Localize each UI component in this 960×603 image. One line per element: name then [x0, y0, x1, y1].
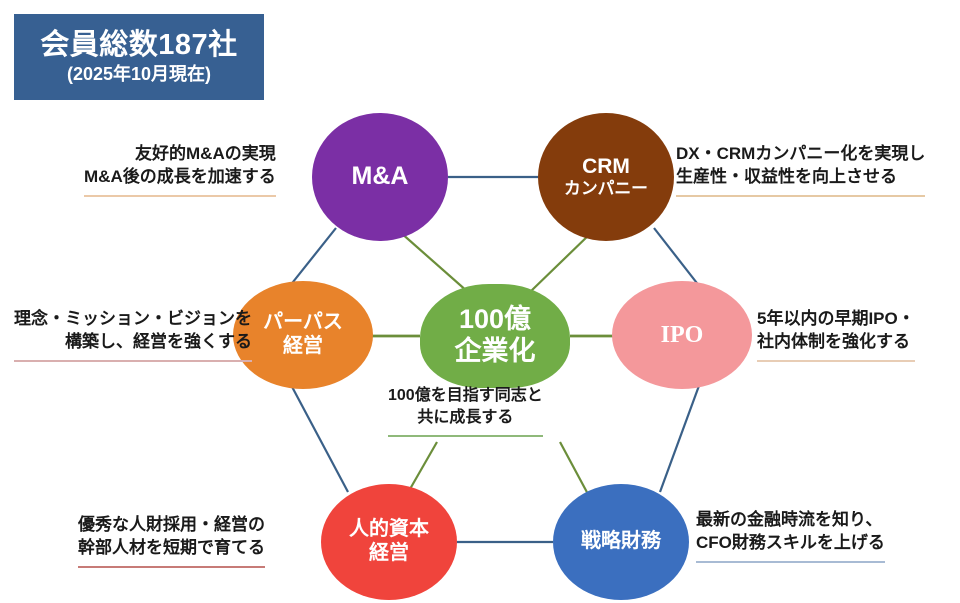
caption-human-line2: 幹部人材を短期で育てる — [78, 536, 265, 559]
caption-finance-line2: CFO財務スキルを上げる — [696, 531, 885, 554]
node-ma[interactable]: M&A — [312, 113, 448, 241]
spoke-center-finance — [560, 442, 589, 496]
node-finance[interactable]: 戦略財務 — [553, 484, 689, 600]
node-ipo-label: IPO — [661, 321, 704, 349]
node-finance-label: 戦略財務 — [581, 530, 661, 554]
caption-crm: DX・CRMカンパニー化を実現し 生産性・収益性を向上させる — [676, 142, 925, 197]
edge-ipo-finance — [660, 383, 700, 492]
spoke-center-crm — [530, 232, 592, 292]
node-purpose[interactable]: パーパス 経営 — [233, 281, 373, 389]
caption-ipo: 5年以内の早期IPO・ 社内体制を強化する — [757, 307, 915, 362]
node-purpose-sublabel: 経営 — [263, 335, 343, 359]
caption-center: 100億を目指す同志と 共に成長する — [388, 385, 543, 437]
caption-human: 優秀な人財採用・経営の 幹部人材を短期で育てる — [78, 513, 265, 568]
caption-purpose: 理念・ミッション・ビジョンを 構築し、経営を強くする — [14, 307, 252, 362]
node-crm[interactable]: CRM カンパニー — [538, 113, 674, 241]
caption-purpose-line2: 構築し、経営を強くする — [14, 330, 252, 353]
caption-ma-rule — [84, 195, 276, 197]
edge-crm-ipo — [654, 228, 700, 287]
caption-ipo-line2: 社内体制を強化する — [757, 330, 915, 353]
caption-center-rule — [388, 435, 543, 437]
diagram-page: 会員総数187社 (2025年10月現在) M&A CRM カンパニー パーパス — [0, 0, 960, 603]
node-center-goal[interactable]: 100億 企業化 — [420, 284, 570, 388]
node-human-sublabel: 経営 — [349, 542, 429, 566]
spoke-center-ma — [400, 232, 468, 292]
node-center-label: 100億 — [455, 304, 536, 336]
caption-crm-line2: 生産性・収益性を向上させる — [676, 165, 925, 188]
caption-finance-rule — [696, 561, 885, 563]
caption-purpose-rule — [14, 360, 252, 362]
caption-ma: 友好的M&Aの実現 M&A後の成長を加速する — [84, 142, 276, 197]
caption-finance: 最新の金融時流を知り、 CFO財務スキルを上げる — [696, 508, 885, 563]
caption-crm-rule — [676, 195, 925, 197]
node-ipo[interactable]: IPO — [612, 281, 752, 389]
caption-human-rule — [78, 566, 265, 568]
edge-ma-purpose — [289, 228, 336, 287]
node-purpose-label: パーパス — [263, 311, 343, 335]
caption-ma-line1: 友好的M&Aの実現 — [84, 142, 276, 165]
node-human-label: 人的資本 — [349, 518, 429, 542]
node-center-sublabel: 企業化 — [455, 336, 536, 368]
caption-crm-line1: DX・CRMカンパニー化を実現し — [676, 142, 925, 165]
caption-human-line1: 優秀な人財採用・経営の — [78, 513, 265, 536]
node-ma-label: M&A — [352, 162, 409, 192]
node-human[interactable]: 人的資本 経営 — [321, 484, 457, 600]
caption-ma-line2: M&A後の成長を加速する — [84, 165, 276, 188]
caption-center-line1: 100億を目指す同志と — [388, 385, 543, 407]
node-crm-sublabel: カンパニー — [564, 179, 648, 199]
node-crm-label: CRM — [564, 155, 648, 180]
caption-finance-line1: 最新の金融時流を知り、 — [696, 508, 885, 531]
caption-ipo-line1: 5年以内の早期IPO・ — [757, 307, 915, 330]
caption-purpose-line1: 理念・ミッション・ビジョンを — [14, 307, 252, 330]
edge-purpose-human — [290, 383, 348, 492]
caption-center-line2: 共に成長する — [388, 407, 543, 429]
caption-ipo-rule — [757, 360, 915, 362]
